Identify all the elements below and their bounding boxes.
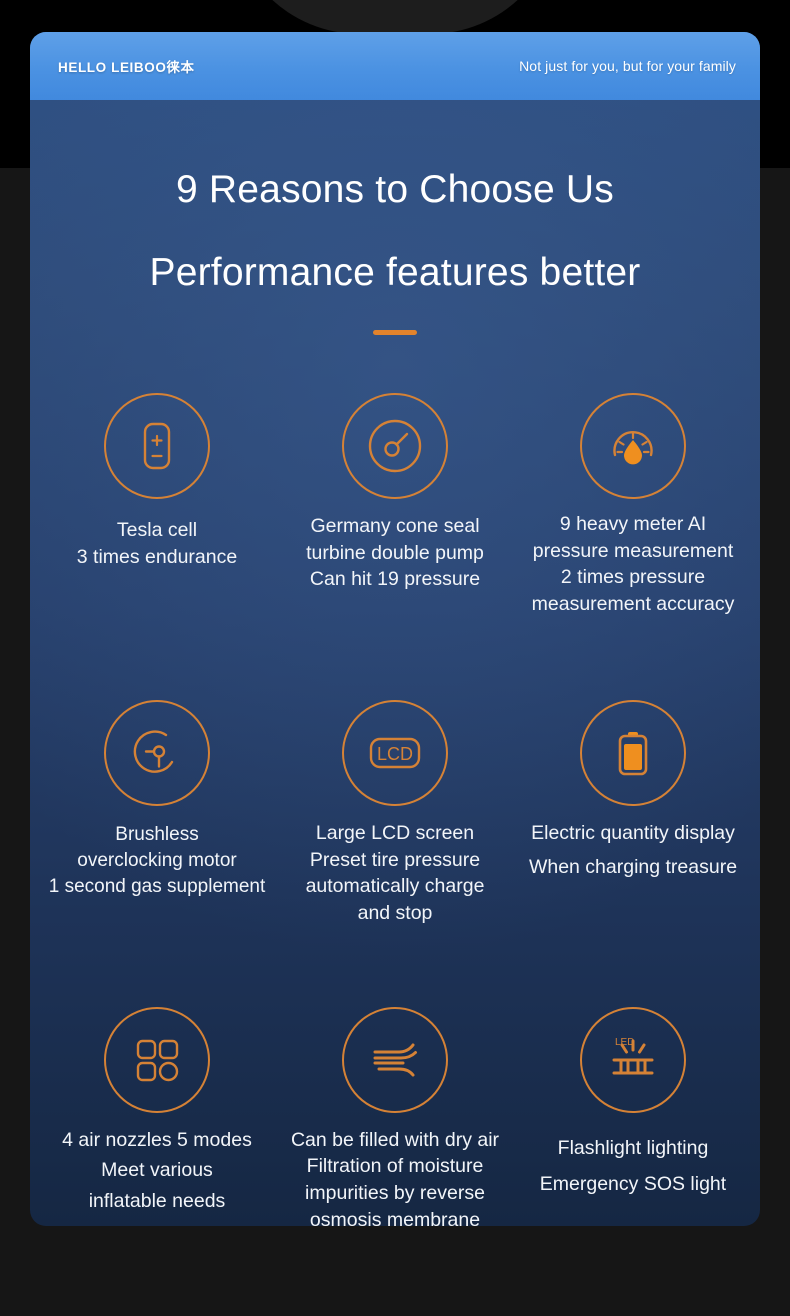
feature-item: Electric quantity display When charging … <box>514 700 752 927</box>
caption-line: impurities by reverse <box>291 1180 499 1207</box>
feature-caption: Can be filled with dry air Filtration of… <box>291 1127 499 1226</box>
feature-item: 4 air nozzles 5 modes Meet various infla… <box>38 1007 276 1226</box>
caption-line: osmosis membrane <box>291 1207 499 1226</box>
caption-line: Meet various <box>62 1157 252 1184</box>
caption-line: inflatable needs <box>62 1188 252 1215</box>
title-divider <box>373 330 417 335</box>
caption-line: automatically charge <box>306 873 485 900</box>
feature-caption: Brushless overclocking motor 1 second ga… <box>49 822 266 900</box>
pressure-droplet-icon <box>580 393 686 499</box>
svg-text:LCD: LCD <box>377 744 413 764</box>
caption-line: Filtration of moisture <box>291 1153 499 1180</box>
brand-logo-text: HELLO LEIBOO徕本 <box>58 56 195 76</box>
battery-level-icon <box>580 700 686 806</box>
caption-line: Large LCD screen <box>306 820 485 847</box>
caption-line: Emergency SOS light <box>540 1171 726 1198</box>
feature-grid-row-2: Brushless overclocking motor 1 second ga… <box>30 676 760 927</box>
four-nozzles-icon <box>104 1007 210 1113</box>
led-flashlight-icon: LED <box>580 1007 686 1113</box>
feature-caption: 9 heavy meter AI pressure measurement 2 … <box>532 511 735 618</box>
caption-line: Can hit 19 pressure <box>306 566 484 593</box>
caption-line: Flashlight lighting <box>540 1135 726 1162</box>
caption-line: and stop <box>306 900 485 927</box>
hero-section: 9 Reasons to Choose Us Performance featu… <box>30 170 760 335</box>
feature-item: LED Flashlight lighting Emergency SOS li… <box>514 1007 752 1226</box>
caption-line: 1 second gas supplement <box>49 874 266 900</box>
feature-item: LCD Large LCD screen Preset tire pressur… <box>276 700 514 927</box>
header-tagline: Not just for you, but for your family <box>519 58 736 74</box>
caption-line: Can be filled with dry air <box>291 1127 499 1154</box>
caption-line: Germany cone seal <box>306 513 484 540</box>
feature-caption: 4 air nozzles 5 modes Meet various infla… <box>62 1127 252 1215</box>
device-notch-shape <box>230 0 560 34</box>
feature-caption: Large LCD screen Preset tire pressure au… <box>306 820 485 927</box>
caption-line: Brushless <box>49 822 266 848</box>
feature-item: Brushless overclocking motor 1 second ga… <box>38 700 276 927</box>
lcd-screen-icon: LCD <box>342 700 448 806</box>
page-subtitle: Performance features better <box>30 253 760 292</box>
caption-line: When charging treasure <box>529 854 737 881</box>
feature-grid-row-1: Tesla cell 3 times endurance Germany con… <box>30 393 760 618</box>
caption-line: measurement accuracy <box>532 591 735 618</box>
feature-item: Tesla cell 3 times endurance <box>38 393 276 618</box>
feature-caption: Electric quantity display When charging … <box>529 820 737 880</box>
page-title: 9 Reasons to Choose Us <box>30 170 760 209</box>
caption-line: turbine double pump <box>306 540 484 567</box>
feature-item: Can be filled with dry air Filtration of… <box>276 1007 514 1226</box>
feature-caption: Tesla cell 3 times endurance <box>77 517 237 570</box>
card-header: HELLO LEIBOO徕本 Not just for you, but for… <box>30 32 760 100</box>
feature-item: Germany cone seal turbine double pump Ca… <box>276 393 514 618</box>
feature-caption: Flashlight lighting Emergency SOS light <box>540 1135 726 1198</box>
caption-line: pressure measurement <box>532 538 735 565</box>
caption-line: Preset tire pressure <box>306 847 485 874</box>
caption-line: 9 heavy meter AI <box>532 511 735 538</box>
brushless-motor-icon <box>104 700 210 806</box>
feature-grid-row-3: 4 air nozzles 5 modes Meet various infla… <box>30 985 760 1226</box>
promo-card: HELLO LEIBOO徕本 Not just for you, but for… <box>30 32 760 1226</box>
caption-line: Tesla cell <box>77 517 237 544</box>
battery-cell-icon <box>104 393 210 499</box>
caption-line: 4 air nozzles 5 modes <box>62 1127 252 1154</box>
pressure-gauge-icon <box>342 393 448 499</box>
caption-line: Electric quantity display <box>529 820 737 847</box>
feature-item: 9 heavy meter AI pressure measurement 2 … <box>514 393 752 618</box>
caption-line: 3 times endurance <box>77 544 237 571</box>
dry-airflow-icon <box>342 1007 448 1113</box>
caption-line: 2 times pressure <box>532 564 735 591</box>
feature-caption: Germany cone seal turbine double pump Ca… <box>306 513 484 593</box>
caption-line: overclocking motor <box>49 848 266 874</box>
